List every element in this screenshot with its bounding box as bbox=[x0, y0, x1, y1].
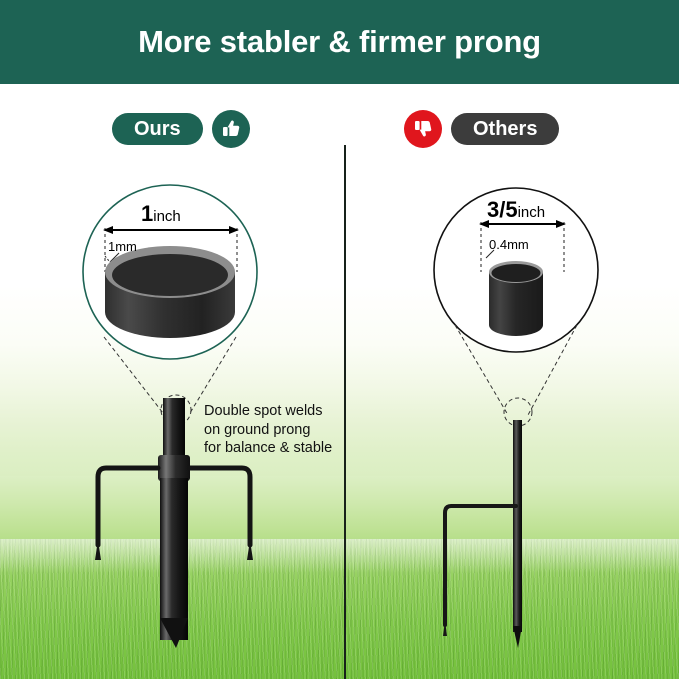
ours-diameter-label: 1inch bbox=[141, 203, 181, 225]
page-title: More stabler & firmer prong bbox=[0, 0, 679, 84]
sky-gradient bbox=[0, 84, 679, 504]
others-diameter-label: 3/5inch bbox=[487, 199, 545, 221]
others-badge-group: Others bbox=[404, 110, 559, 148]
grass-field-background bbox=[0, 84, 679, 679]
weld-annotation: Double spot welds on ground prong for ba… bbox=[204, 402, 332, 458]
ours-badge: Ours bbox=[112, 113, 203, 145]
others-wall-thickness-label: 0.4mm bbox=[489, 238, 529, 251]
others-badge: Others bbox=[451, 113, 559, 145]
weld-annotation-line1: Double spot welds bbox=[204, 402, 332, 421]
ours-wall-thickness-label: 1mm bbox=[108, 240, 137, 253]
ours-badge-group: Ours bbox=[112, 110, 250, 148]
comparison-divider bbox=[344, 145, 346, 679]
product-comparison-infographic: More stabler & firmer prong Ours Others bbox=[0, 0, 679, 679]
thumbs-down-icon bbox=[404, 110, 442, 148]
grass-highlight bbox=[0, 539, 679, 573]
thumbs-up-icon bbox=[212, 110, 250, 148]
weld-annotation-line3: for balance & stable bbox=[204, 439, 332, 458]
weld-annotation-line2: on ground prong bbox=[204, 421, 332, 440]
